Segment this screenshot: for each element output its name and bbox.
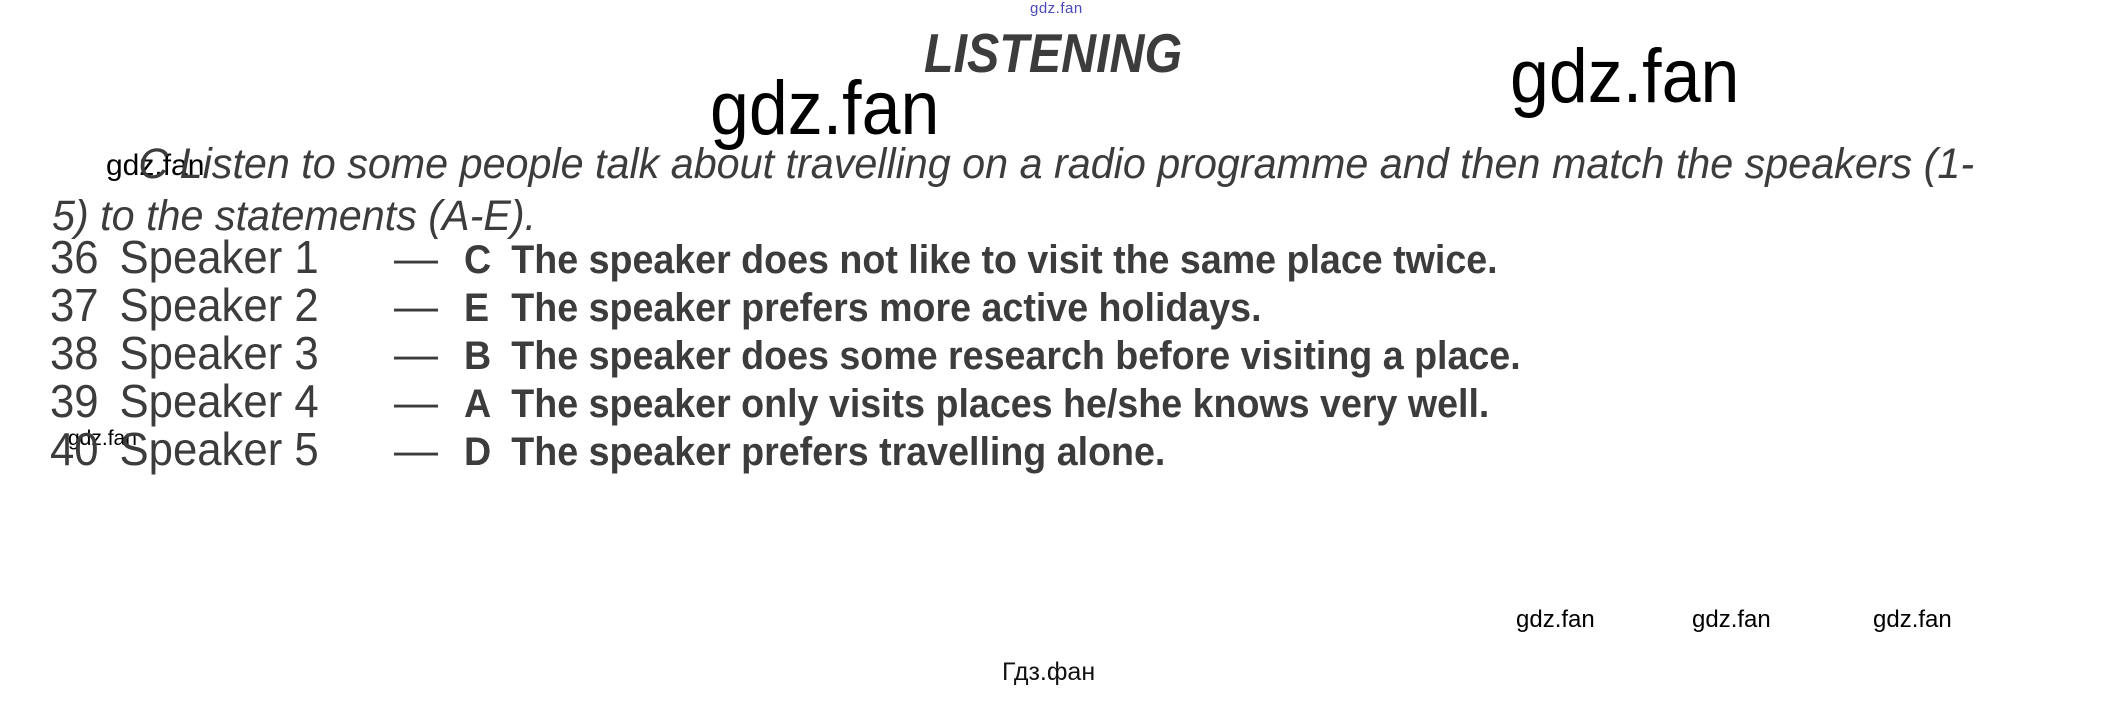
item-number: 37 (50, 278, 107, 332)
list-item: 40 Speaker 5 — D The speaker prefers tra… (50, 422, 2050, 470)
page-canvas: gdz.fan gdz.fan gdz.fan gdz.fan gdz.fan … (0, 0, 2122, 703)
item-speaker-label: Speaker 5 (110, 422, 355, 476)
page-title: LISTENING (924, 26, 1182, 81)
list-item: 38 Speaker 3 — B The speaker does some r… (50, 326, 2050, 374)
item-answer-letter: B (464, 334, 498, 379)
item-answer-letter: A (464, 382, 498, 427)
item-statement: The speaker does not like to visit the s… (500, 238, 1498, 283)
item-number: 38 (50, 326, 107, 380)
item-speaker-label: Speaker 2 (110, 278, 355, 332)
watermark-bottom-1: gdz.fan (1516, 608, 1595, 632)
item-speaker-label: Speaker 1 (110, 230, 355, 284)
item-dash: — (368, 426, 464, 476)
item-speaker-label: Speaker 4 (110, 374, 355, 428)
item-speaker-label: Speaker 3 (110, 326, 355, 380)
item-answer-letter: D (464, 430, 498, 475)
item-statement: The speaker prefers more active holidays… (500, 286, 1262, 331)
item-dash: — (368, 378, 464, 428)
item-number: 40 (50, 422, 107, 476)
list-item: 39 Speaker 4 — A The speaker only visits… (50, 374, 2050, 422)
item-number: 36 (50, 230, 107, 284)
item-answer-letter: C (464, 238, 498, 283)
watermark-bottom-3: gdz.fan (1873, 608, 1952, 632)
item-dash: — (368, 330, 464, 380)
watermark-top-blue: gdz.fan (1030, 1, 1083, 16)
watermark-bottom-2: gdz.fan (1692, 608, 1771, 632)
item-statement: The speaker only visits places he/she kn… (500, 382, 1489, 427)
item-answer-letter: E (464, 286, 498, 331)
item-statement: The speaker prefers travelling alone. (500, 430, 1165, 475)
matching-list: 36 Speaker 1 — C The speaker does not li… (50, 230, 2050, 470)
watermark-big-right: gdz.fan (1510, 39, 1739, 115)
watermark-big-center: gdz.fan (710, 71, 939, 147)
watermark-bottom-cyrillic: Гдз.фан (1002, 660, 1095, 685)
item-dash: — (368, 282, 464, 332)
task-instruction: C Listen to some people talk about trave… (52, 138, 1991, 243)
item-number: 39 (50, 374, 107, 428)
list-item: 36 Speaker 1 — C The speaker does not li… (50, 230, 2050, 278)
item-dash: — (368, 234, 464, 284)
list-item: 37 Speaker 2 — E The speaker prefers mor… (50, 278, 2050, 326)
item-statement: The speaker does some research before vi… (500, 334, 1521, 379)
